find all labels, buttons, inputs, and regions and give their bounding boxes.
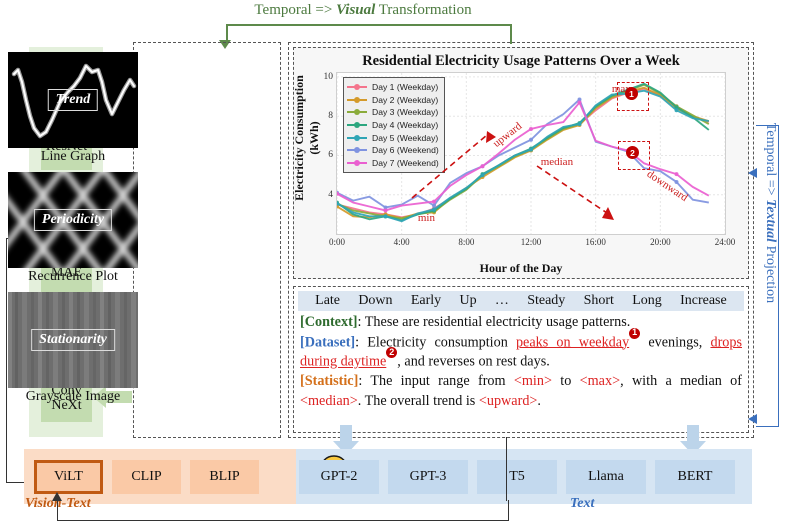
image-cell-recurrence-plot: Periodicity Recurrence Plot: [8, 172, 138, 285]
statistic-min: <min>: [514, 373, 552, 389]
top-label-suffix: Transformation: [375, 2, 471, 18]
chart-y-tick: 4: [328, 190, 333, 200]
temporal-visual-label: Temporal => Visual Transformation: [198, 2, 528, 19]
model-clip[interactable]: CLIP: [112, 460, 181, 494]
text-label: Text: [570, 496, 594, 512]
chart-x-tick: 0:00: [329, 237, 345, 247]
token-ellipsis: …: [495, 293, 509, 309]
legend-label: Day 3 (Weekday): [372, 107, 438, 117]
token-row: Late Down Early Up … Steady Short Long I…: [298, 291, 744, 311]
model-blip[interactable]: BLIP: [190, 460, 259, 494]
statistic-text-c: , with a median of: [620, 373, 742, 389]
model-vilt[interactable]: ViLT: [34, 460, 103, 494]
image-cell-line-graph: Trend Line Graph: [8, 52, 138, 165]
dataset-badge-2: 2: [386, 347, 397, 358]
legend-swatch: [347, 137, 367, 139]
image-cell-grayscale: Stationarity Grayscale Image: [8, 292, 138, 405]
statistic-trend: <upward>: [479, 393, 538, 409]
dataset-text-c: , and reverses on rest days.: [397, 354, 549, 370]
token-late: Late: [315, 293, 340, 309]
statistic-key: [Statistic]: [300, 373, 358, 389]
context-text: : These are residential electricity usag…: [358, 314, 631, 330]
bottom-feedback-riser: [506, 437, 507, 501]
statistic-text-a: : The input range from: [358, 373, 514, 389]
image-caption-grayscale: Grayscale Image: [8, 389, 138, 405]
statistic-max: <max>: [580, 373, 620, 389]
legend-item: Day 4 (Weekday): [347, 119, 439, 132]
model-llama[interactable]: Llama: [566, 460, 646, 494]
statistic-text-e: .: [537, 393, 541, 409]
legend-item: Day 1 (Weekday): [347, 81, 439, 94]
visual-representations-panel: [133, 42, 281, 438]
top-label-emphasis: Visual: [336, 2, 375, 18]
image-caption-recurrence-plot: Recurrence Plot: [8, 269, 138, 285]
legend-swatch: [347, 149, 367, 151]
recurrence-plot-art: Periodicity: [8, 172, 138, 268]
image-caption-line-graph: Line Graph: [8, 149, 138, 165]
chart-x-tick: 12:00: [521, 237, 542, 247]
text-description-container: Late Down Early Up … Steady Short Long I…: [293, 286, 749, 433]
chart-annotation-min: min: [418, 212, 435, 224]
legend-swatch: [347, 99, 367, 101]
model-bert[interactable]: BERT: [655, 460, 735, 494]
legend-item: Day 5 (Weekday): [347, 131, 439, 144]
chart-x-tick: 16:00: [585, 237, 606, 247]
chart-y-tick: 10: [324, 72, 334, 82]
chart-legend: Day 1 (Weekday)Day 2 (Weekday)Day 3 (Wee…: [343, 77, 445, 173]
token-long: Long: [632, 293, 662, 309]
model-gpt3[interactable]: GPT-3: [388, 460, 468, 494]
legend-label: Day 5 (Weekday): [372, 133, 438, 143]
legend-swatch: [347, 111, 367, 113]
legend-swatch: [347, 124, 367, 126]
legend-label: Day 7 (Weekend): [372, 158, 439, 168]
chart-x-tick: 4:00: [394, 237, 410, 247]
chart-x-tick: 24:00: [715, 237, 736, 247]
legend-item: Day 6 (Weekend): [347, 144, 439, 157]
legend-label: Day 6 (Weekend): [372, 145, 439, 155]
legend-item: Day 7 (Weekend): [347, 157, 439, 170]
right-label-suffix: Projection: [763, 242, 778, 303]
bottom-feedback-arrow-icon: [52, 492, 62, 501]
right-arrow-to-chart-icon: [748, 168, 757, 178]
statistic-median: <median>: [300, 393, 358, 409]
temporal-textual-label: Temporal => Textual Projection: [762, 103, 778, 323]
right-arrow-to-bert-icon: [748, 414, 757, 424]
image-tag-trend: Trend: [48, 89, 98, 111]
token-short: Short: [584, 293, 614, 309]
chart-x-tick: 8:00: [458, 237, 474, 247]
token-increase: Increase: [680, 293, 727, 309]
top-bracket-connector: [226, 24, 512, 44]
statistic-text-d: . The overall trend is: [358, 393, 479, 409]
description-paragraph: [Context]: These are residential electri…: [300, 313, 742, 411]
chart-title: Residential Electricity Usage Patterns O…: [294, 53, 748, 70]
dataset-text-a: : Electricity consumption: [355, 334, 516, 350]
model-gpt2[interactable]: GPT-2: [299, 460, 379, 494]
image-tag-periodicity: Periodicity: [34, 209, 112, 231]
dataset-text-b: evenings,: [640, 334, 710, 350]
legend-item: Day 2 (Weekday): [347, 94, 439, 107]
top-label-prefix: Temporal =>: [254, 2, 336, 18]
chart-y-tick: 8: [328, 111, 333, 121]
legend-label: Day 1 (Weekday): [372, 82, 438, 92]
token-early: Early: [411, 293, 441, 309]
token-steady: Steady: [527, 293, 565, 309]
line-graph-art: Trend: [8, 52, 138, 148]
token-up: Up: [459, 293, 476, 309]
chart-y-tick: 6: [328, 150, 333, 160]
chart-x-axis-label: Hour of the Day: [294, 261, 748, 276]
legend-swatch: [347, 86, 367, 88]
chart-plot-area: 46810 0:004:008:0012:0016:0020:0024:00 m…: [336, 72, 726, 235]
legend-item: Day 3 (Weekday): [347, 106, 439, 119]
grayscale-image-art: Stationarity: [8, 292, 138, 388]
dataset-badge-1: 1: [629, 328, 640, 339]
legend-label: Day 4 (Weekday): [372, 120, 438, 130]
dataset-highlight-1: peaks on weekday: [516, 334, 629, 350]
dataset-key: [Dataset]: [300, 334, 355, 350]
legend-label: Day 2 (Weekday): [372, 95, 438, 105]
chart-badge-2: 2: [626, 146, 639, 159]
bottom-feedback-wire: [57, 500, 509, 521]
token-down: Down: [358, 293, 392, 309]
image-tag-stationarity: Stationarity: [31, 329, 115, 351]
chart-y-axis-label: Electricity Consumption (kWh): [292, 63, 322, 213]
chart-container: Residential Electricity Usage Patterns O…: [293, 47, 749, 279]
context-line: [Context]: These are residential electri…: [300, 313, 742, 333]
chart-badge-1: 1: [625, 87, 638, 100]
legend-swatch: [347, 162, 367, 164]
dataset-line: [Dataset]: Electricity consumption peaks…: [300, 333, 742, 373]
model-t5[interactable]: T5: [477, 460, 557, 494]
context-key: [Context]: [300, 314, 358, 330]
statistic-line: [Statistic]: The input range from <min> …: [300, 372, 742, 411]
statistic-text-b: to: [552, 373, 580, 389]
right-label-prefix: Temporal =>: [763, 123, 778, 199]
chart-annotation-median: median: [541, 156, 573, 168]
chart-x-tick: 20:00: [650, 237, 671, 247]
right-label-emphasis: Textual: [763, 199, 778, 242]
